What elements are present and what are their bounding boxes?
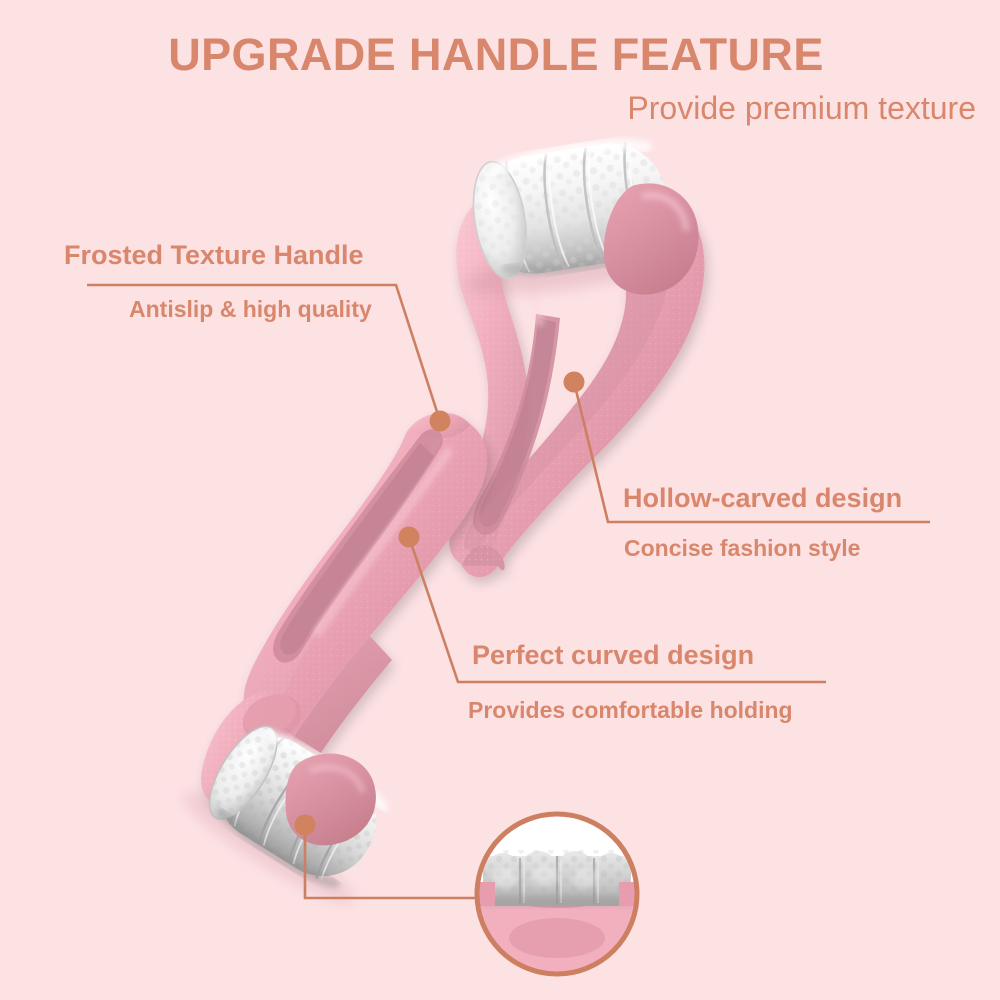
callout-heading-perfect-curved-design: Perfect curved design: [472, 640, 754, 671]
marker-frosted-texture-handle[interactable]: [430, 411, 451, 432]
marker-detail-circle[interactable]: [295, 815, 316, 836]
callout-heading-frosted-texture-handle: Frosted Texture Handle: [64, 240, 364, 271]
callout-heading-hollow-carved-design: Hollow-carved design: [623, 483, 902, 514]
page-subtitle: Provide premium texture: [0, 90, 1000, 127]
infographic-canvas: UPGRADE HANDLE FEATURE Provide premium t…: [0, 0, 1000, 1000]
callout-subheading-hollow-carved-design: Concise fashion style: [624, 535, 860, 562]
page-title: UPGRADE HANDLE FEATURE: [0, 29, 1000, 81]
callout-subheading-frosted-texture-handle: Antislip & high quality: [129, 296, 372, 323]
marker-hollow-carved-design[interactable]: [564, 372, 585, 393]
callout-subheading-perfect-curved-design: Provides comfortable holding: [468, 697, 793, 724]
marker-perfect-curved-design[interactable]: [399, 527, 420, 548]
detail-circle: [477, 814, 637, 974]
detail-roller: [483, 850, 631, 906]
detail-thumb-indent: [509, 918, 605, 958]
